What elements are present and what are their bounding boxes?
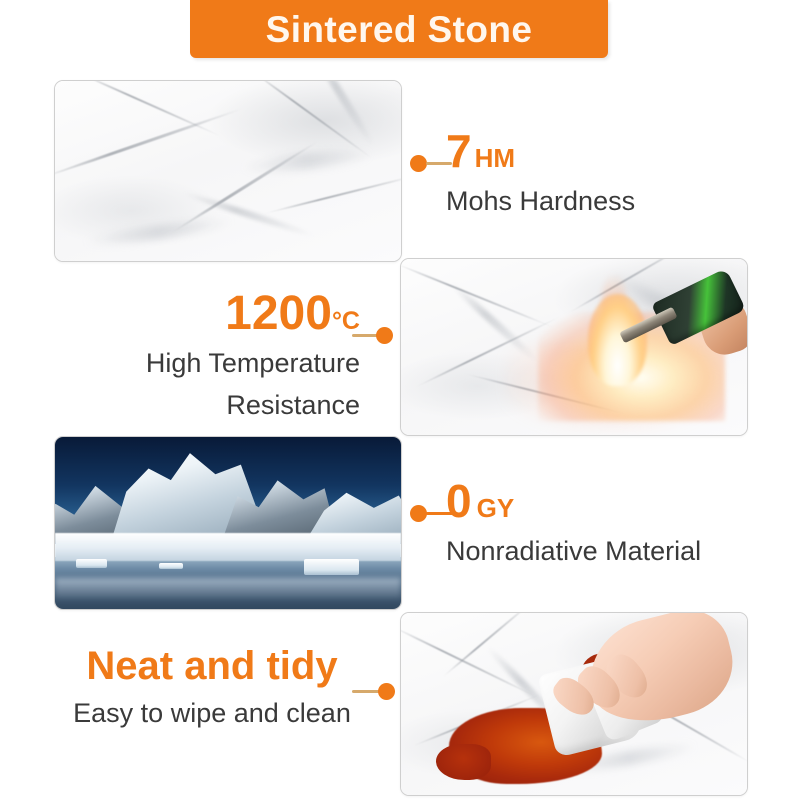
clean-value: Neat and tidy xyxy=(62,646,362,686)
feature-image-hardness xyxy=(54,80,402,262)
flame-core xyxy=(588,294,647,386)
connector-hardness xyxy=(410,154,450,174)
radiation-value-row: 0 GY xyxy=(446,478,701,524)
feature-clean: Neat and tidy Easy to wipe and clean xyxy=(62,646,362,730)
temperature-caption-line1: High Temperature xyxy=(112,348,360,380)
iceberg xyxy=(159,563,183,570)
page-title: Sintered Stone xyxy=(266,11,533,48)
feature-image-clean xyxy=(400,612,748,796)
iceberg xyxy=(304,559,359,574)
bullet-dot-icon xyxy=(378,683,395,700)
wiping-spill-image xyxy=(401,613,747,795)
connector-temperature xyxy=(352,326,396,346)
torch-flame-image xyxy=(401,259,747,435)
bullet-dot-icon xyxy=(410,155,427,172)
clean-caption: Easy to wipe and clean xyxy=(62,698,362,730)
temperature-value-row: 1200 °C xyxy=(112,290,360,338)
glacier-mountain-image xyxy=(55,437,401,609)
radiation-unit: GY xyxy=(477,495,515,521)
radiation-caption: Nonradiative Material xyxy=(446,536,701,568)
feature-image-temperature xyxy=(400,258,748,436)
hardness-caption: Mohs Hardness xyxy=(446,186,635,218)
radiation-value: 0 xyxy=(446,478,472,524)
connector-clean xyxy=(352,682,398,702)
water-reflection xyxy=(55,578,401,599)
temperature-caption-line2: Resistance xyxy=(112,390,360,422)
bullet-dot-icon xyxy=(376,327,393,344)
marble-slab-image xyxy=(55,81,401,261)
feature-temperature: 1200 °C High Temperature Resistance xyxy=(112,290,360,422)
hardness-unit: HM xyxy=(475,145,515,171)
feature-hardness: 7 HM Mohs Hardness xyxy=(446,128,635,218)
bullet-dot-icon xyxy=(410,505,427,522)
hardness-value: 7 xyxy=(446,128,472,174)
iceberg xyxy=(76,559,107,568)
feature-radiation: 0 GY Nonradiative Material xyxy=(446,478,701,568)
temperature-value: 1200 xyxy=(225,290,332,338)
hardness-value-row: 7 HM xyxy=(446,128,635,174)
title-banner: Sintered Stone xyxy=(190,0,608,58)
feature-image-radiation xyxy=(54,436,402,610)
ice-shelf xyxy=(55,533,401,561)
